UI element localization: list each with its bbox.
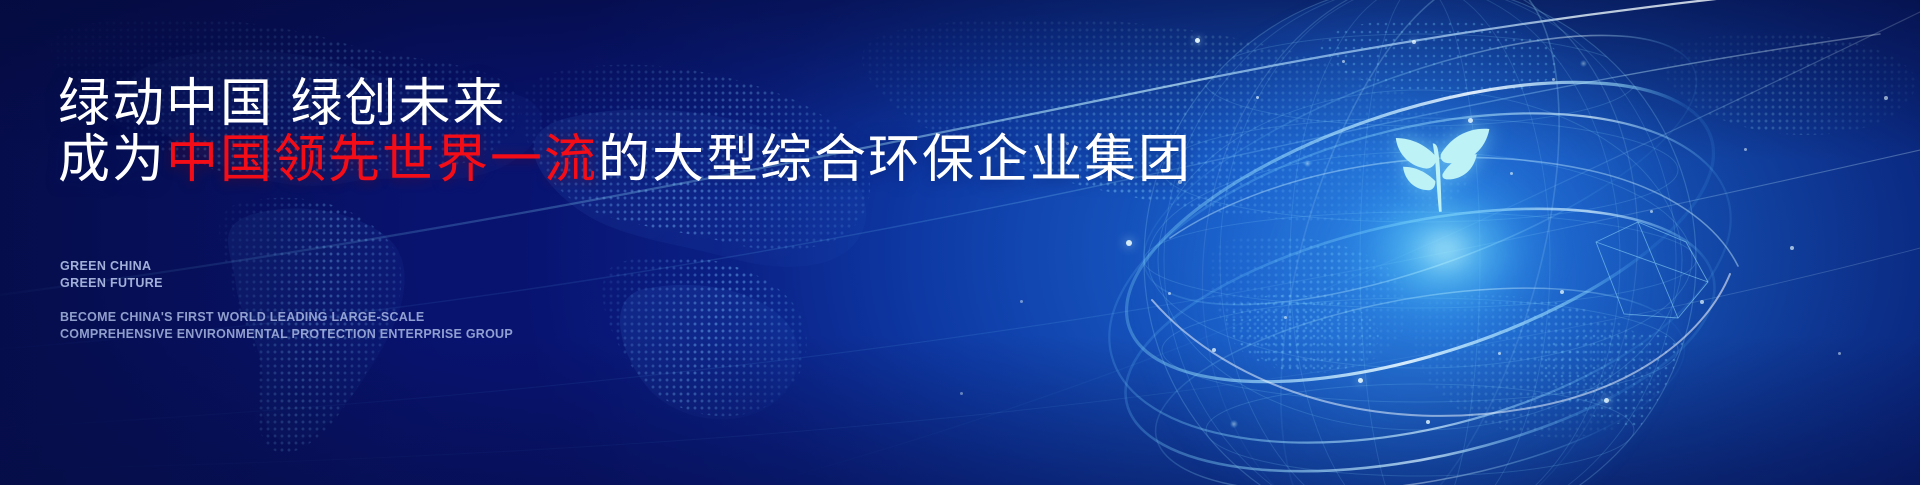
headline-line-2-prefix: 成为	[58, 131, 166, 189]
tagline-english: BECOME CHINA'S FIRST WORLD LEADING LARGE…	[60, 309, 513, 342]
headline-line-2: 成为中国领先世界一流的大型综合环保企业集团	[58, 134, 1192, 186]
headline-line-2-highlight: 中国领先世界一流	[166, 131, 598, 189]
subtitle-english-line-2: GREEN FUTURE	[60, 275, 163, 292]
hero-banner: 绿动中国 绿创未来 成为中国领先世界一流的大型综合环保企业集团 GREEN CH…	[0, 0, 1920, 485]
copy-block: 绿动中国 绿创未来 成为中国领先世界一流的大型综合环保企业集团 GREEN CH…	[58, 0, 1058, 485]
headline-line-2-suffix: 的大型综合环保企业集团	[598, 131, 1192, 189]
tagline-english-line-2: COMPREHENSIVE ENVIRONMENTAL PROTECTION E…	[60, 326, 513, 343]
subtitle-english: GREEN CHINA GREEN FUTURE	[60, 258, 163, 291]
headline-line-1: 绿动中国 绿创未来	[58, 78, 506, 130]
subtitle-english-line-1: GREEN CHINA	[60, 258, 163, 275]
tagline-english-line-1: BECOME CHINA'S FIRST WORLD LEADING LARGE…	[60, 309, 513, 326]
sprout-leaf-icon	[1385, 110, 1493, 220]
